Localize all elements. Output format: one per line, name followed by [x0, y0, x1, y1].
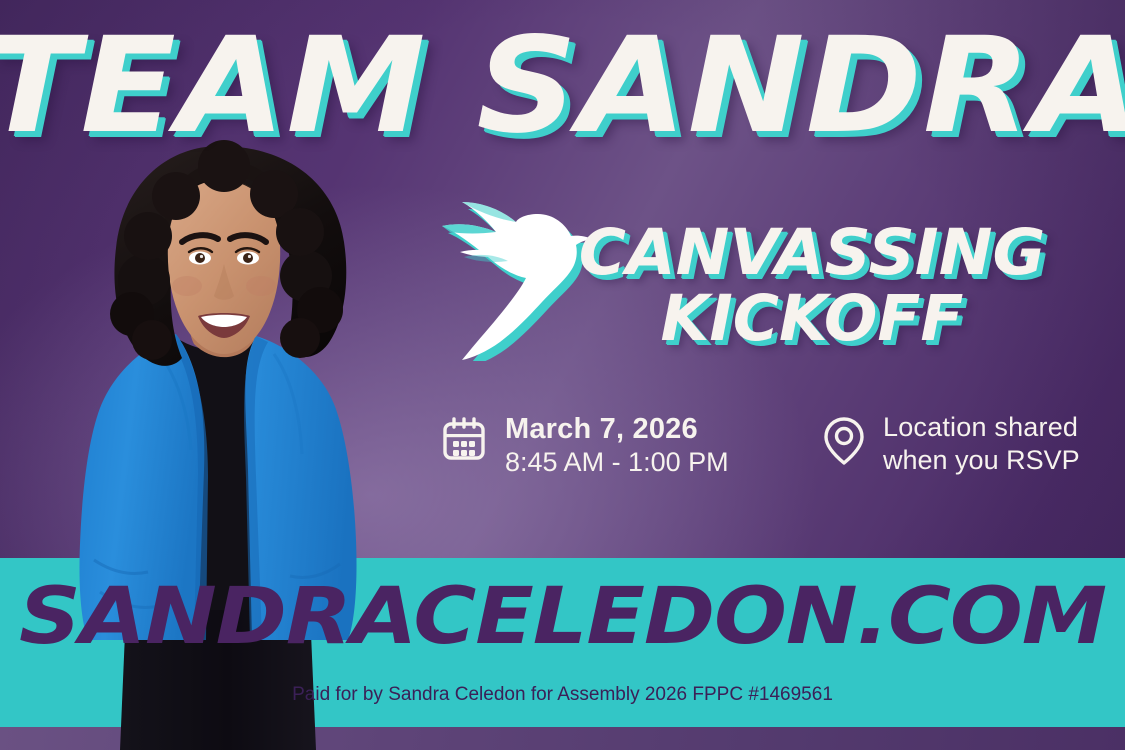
event-title: CANVASSING KICKOFF — [567, 222, 1057, 351]
event-title-line2: KICKOFF — [567, 288, 1057, 350]
website-url[interactable]: SANDRACELEDON.COM — [0, 572, 1125, 662]
event-title-line1: CANVASSING — [562, 222, 1062, 284]
page-title: TEAM SANDRA — [0, 18, 1125, 155]
detail-location-text: Location shared when you RSVP — [883, 412, 1125, 476]
detail-date: March 7, 2026 8:45 AM - 1:00 PM — [440, 412, 762, 479]
map-pin-icon — [822, 415, 866, 472]
detail-date-line2: 8:45 AM - 1:00 PM — [505, 447, 729, 477]
detail-date-line1: March 7, 2026 — [505, 413, 698, 445]
disclaimer-text: Paid for by Sandra Celedon for Assembly … — [0, 684, 1125, 706]
detail-date-text: March 7, 2026 8:45 AM - 1:00 PM — [505, 412, 762, 479]
detail-location: Location shared when you RSVP — [822, 412, 1125, 476]
event-title-group: CANVASSING KICKOFF — [415, 186, 1055, 401]
detail-location-line1: Location shared — [883, 412, 1078, 442]
event-details: March 7, 2026 8:45 AM - 1:00 PM Location… — [440, 412, 1125, 479]
calendar-icon — [440, 415, 488, 468]
detail-location-line2: when you RSVP — [883, 445, 1080, 475]
campaign-poster: TEAM SANDRA CANVASSING KICKOFF — [0, 0, 1125, 750]
